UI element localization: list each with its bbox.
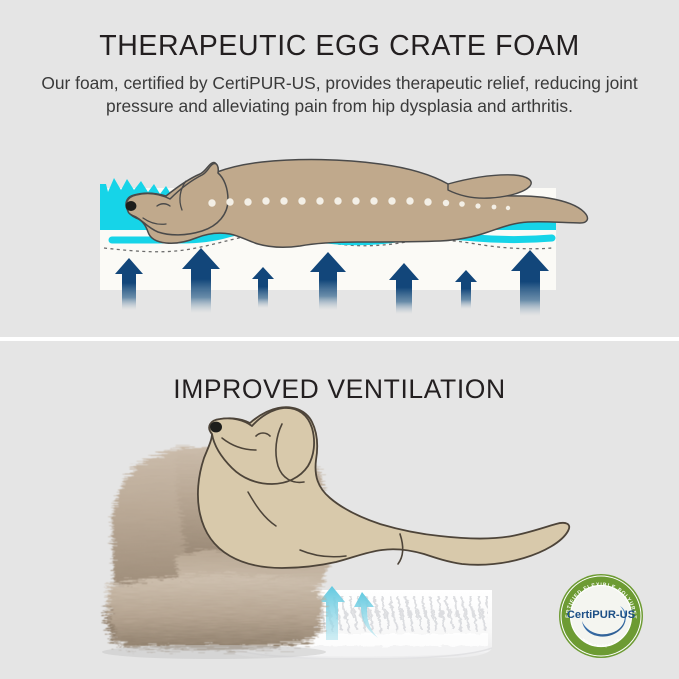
- dog-illustration-lying: [198, 407, 569, 568]
- badge-registered-mark: ®: [632, 608, 635, 613]
- panel-therapeutic-foam: THERAPEUTIC EGG CRATE FOAM Our foam, cer…: [0, 0, 679, 338]
- panel-body-therapeutic: Our foam, certified by CertiPUR-US, prov…: [28, 72, 651, 118]
- dog-nose: [210, 422, 222, 433]
- dog-nose: [126, 201, 137, 211]
- certipur-us-badge: CONTAINS CERTIFIED FLEXIBLE POLYURETHANE…: [558, 573, 644, 659]
- badge-center-text: CertiPUR-US: [567, 609, 636, 621]
- product-infographic: THERAPEUTIC EGG CRATE FOAM Our foam, cer…: [0, 0, 679, 679]
- panel-title-therapeutic: THERAPEUTIC EGG CRATE FOAM: [0, 30, 679, 63]
- foam-cross-section-illustration: [0, 148, 679, 338]
